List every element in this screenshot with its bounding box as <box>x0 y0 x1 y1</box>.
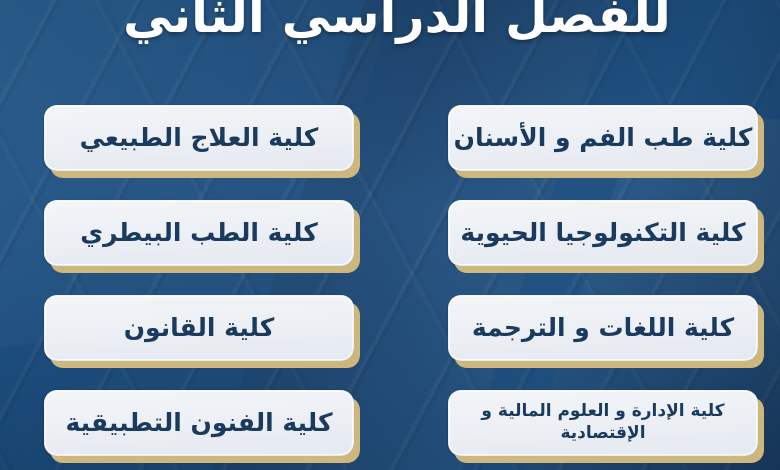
faculty-card-columns: كلية طب الفم و الأسنان كلية التكنولوجيا … <box>0 0 780 470</box>
faculty-card-label: كلية القانون <box>124 313 275 343</box>
faculty-card-label: كلية طب الفم و الأسنان <box>454 123 753 153</box>
poster-screen: للفصل الدراسي الثاني كلية طب الفم و الأس… <box>0 0 780 470</box>
faculty-card-management-financial-economic-sciences[interactable]: كلية الإدارة و العلوم المالية و الإقتصاد… <box>448 390 758 456</box>
faculty-card-physical-therapy[interactable]: كلية العلاج الطبيعي <box>44 105 354 171</box>
faculty-card-label: كلية الطب البيطري <box>80 218 317 248</box>
faculty-card-label: كلية التكنولوجيا الحيوية <box>460 218 745 248</box>
faculty-column-right: كلية طب الفم و الأسنان كلية التكنولوجيا … <box>448 105 758 456</box>
faculty-card-dentistry[interactable]: كلية طب الفم و الأسنان <box>448 105 758 171</box>
faculty-card-languages-translation[interactable]: كلية اللغات و الترجمة <box>448 295 758 361</box>
faculty-card-label: كلية اللغات و الترجمة <box>472 313 734 343</box>
faculty-card-label: كلية الإدارة و العلوم المالية و الإقتصاد… <box>458 401 748 445</box>
faculty-card-biotechnology[interactable]: كلية التكنولوجيا الحيوية <box>448 200 758 266</box>
faculty-column-left: كلية العلاج الطبيعي كلية الطب البيطري كل… <box>44 105 354 456</box>
faculty-card-label: كلية الفنون التطبيقية <box>66 408 333 438</box>
faculty-card-law[interactable]: كلية القانون <box>44 295 354 361</box>
faculty-card-label: كلية العلاج الطبيعي <box>80 123 319 153</box>
faculty-card-applied-arts[interactable]: كلية الفنون التطبيقية <box>44 390 354 456</box>
faculty-card-veterinary-medicine[interactable]: كلية الطب البيطري <box>44 200 354 266</box>
